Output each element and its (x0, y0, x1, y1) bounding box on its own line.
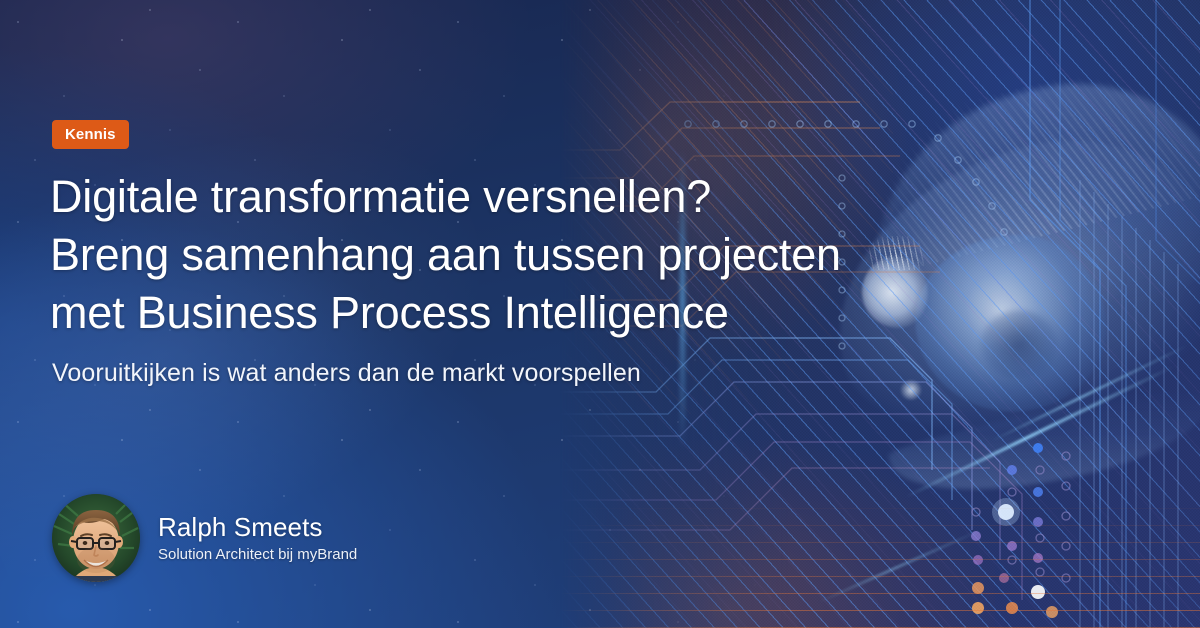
category-badge[interactable]: Kennis (52, 120, 129, 149)
page-title: Digitale transformatie versnellen? Breng… (50, 168, 1010, 342)
headline-line-3: met Business Process Intelligence (50, 284, 1010, 342)
author-role: Solution Architect bij myBrand (158, 544, 357, 565)
avatar-photo (52, 494, 140, 582)
article-hero-banner: Kennis Digitale transformatie versnellen… (0, 0, 1200, 628)
page-subtitle: Vooruitkijken is wat anders dan de markt… (52, 356, 641, 390)
author-name: Ralph Smeets (158, 511, 357, 543)
headline-line-2: Breng samenhang aan tussen projecten (50, 226, 1010, 284)
author-block: Ralph Smeets Solution Architect bij myBr… (52, 494, 357, 582)
headline-line-1: Digitale transformatie versnellen? (50, 168, 1010, 226)
author-text: Ralph Smeets Solution Architect bij myBr… (158, 511, 357, 565)
avatar (52, 494, 140, 582)
banner-content: Kennis Digitale transformatie versnellen… (0, 0, 1200, 628)
